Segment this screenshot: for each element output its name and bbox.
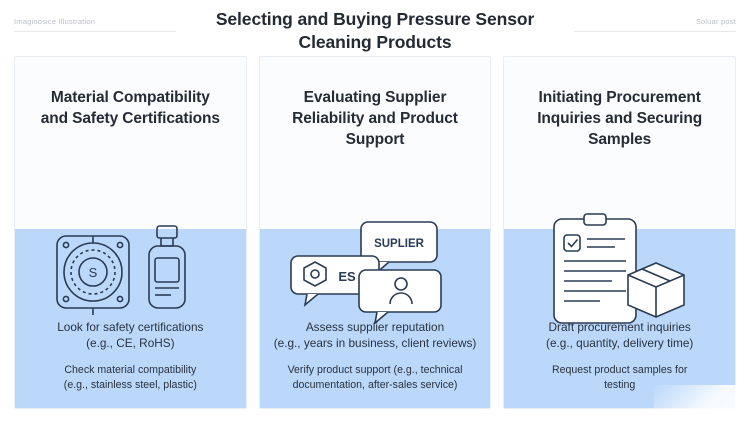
columns-container: Material Compatibility and Safety Certif… — [14, 56, 736, 409]
column-3-bullet-1-line1: Draft procurement inquiries — [514, 319, 725, 335]
column-2-text: Assess supplier reputation (e.g., years … — [260, 319, 491, 404]
column-3-title-line2: Inquiries and Securing — [537, 110, 702, 127]
column-2-bullet-2-line1: Verify product support (e.g., technical — [270, 363, 481, 378]
supplier-bubble-label: SUPLIER — [374, 238, 425, 250]
column-2-bullet-1-line2: (e.g., years in business, client reviews… — [270, 335, 481, 351]
column-1-bullet-2-line2: (e.g., stainless steel, plastic) — [25, 378, 236, 393]
page-title-line1: Selecting and Buying Pressure Sensor — [216, 9, 534, 29]
kicker-left-divider — [14, 31, 176, 32]
page-title: Selecting and Buying Pressure Sensor Cle… — [190, 8, 560, 54]
svg-text:S: S — [89, 265, 98, 280]
column-2-bullet-1-line1: Assess supplier reputation — [270, 319, 481, 335]
column-2-bullet-2: Verify product support (e.g., technical … — [270, 363, 481, 392]
column-1-bullet-2: Check material compatibility (e.g., stai… — [25, 363, 236, 392]
package-box-icon — [628, 263, 684, 317]
column-3-bullet-2-line2: testing — [514, 378, 725, 393]
column-3-bullet-1: Draft procurement inquiries (e.g., quant… — [514, 319, 725, 351]
column-1-bullet-1-line2: (e.g., CE, RoHS) — [25, 335, 236, 351]
column-3-bullet-2: Request product samples for testing — [514, 363, 725, 392]
column-3-title-line3: Samples — [588, 131, 651, 148]
column-procurement-inquiries: Initiating Procurement Inquiries and Sec… — [503, 56, 736, 409]
column-material-compatibility: Material Compatibility and Safety Certif… — [14, 56, 247, 409]
column-2-title-line1: Evaluating Supplier — [304, 89, 447, 106]
column-1-bullet-1: Look for safety certifications (e.g., CE… — [25, 319, 236, 351]
person-chat-icon — [359, 270, 441, 323]
header: Imaginosice Illustration Soluar post Sel… — [0, 0, 750, 58]
column-3-bullet-2-line1: Request product samples for — [514, 363, 725, 378]
column-2-title-line2: Reliability and Product — [292, 110, 458, 127]
column-2-bullet-1: Assess supplier reputation (e.g., years … — [270, 319, 481, 351]
column-supplier-reliability: Evaluating Supplier Reliability and Prod… — [259, 56, 492, 409]
page-title-line2: Cleaning Products — [299, 32, 452, 52]
column-1-bullet-2-line1: Check material compatibility — [25, 363, 236, 378]
column-3-text: Draft procurement inquiries (e.g., quant… — [504, 319, 735, 404]
kicker-right-label: Soluar post — [576, 17, 736, 26]
column-3-bullet-1-line2: (e.g., quantity, delivery time) — [514, 335, 725, 351]
spray-bottle-icon — [149, 226, 185, 308]
column-1-title-line1: Material Compatibility — [51, 89, 210, 106]
clipboard-checklist-icon — [554, 214, 636, 323]
column-2-title: Evaluating Supplier Reliability and Prod… — [271, 87, 479, 150]
column-2-bullet-2-line2: documentation, after-sales service) — [270, 378, 481, 393]
kicker-right-divider — [574, 31, 736, 32]
column-1-title-line2: and Safety Certifications — [41, 110, 220, 127]
column-2-title-line3: Support — [346, 131, 405, 148]
column-3-title-line1: Initiating Procurement — [539, 89, 701, 106]
column-3-title: Initiating Procurement Inquiries and Sec… — [516, 87, 724, 150]
column-1-bullet-1-line1: Look for safety certifications — [25, 319, 236, 335]
infographic-canvas: Imaginosice Illustration Soluar post Sel… — [0, 0, 750, 421]
gauge-icon: S — [57, 236, 129, 315]
column-1-title: Material Compatibility and Safety Certif… — [27, 87, 235, 129]
column-1-text: Look for safety certifications (e.g., CE… — [15, 319, 246, 404]
badge-bubble-label: ES — [338, 269, 356, 284]
kicker-left-label: Imaginosice Illustration — [14, 17, 174, 26]
